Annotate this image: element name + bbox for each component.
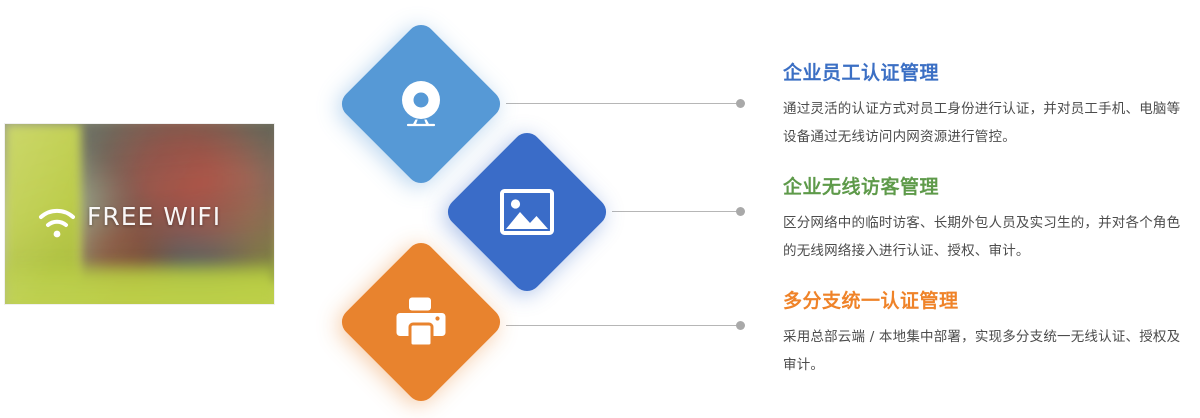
connector-line-3 bbox=[506, 325, 742, 326]
feature-body-1: 通过灵活的认证方式对员工身份进行认证，并对员工手机、电脑等设备通过无线访问内网资… bbox=[783, 95, 1183, 151]
wifi-icon bbox=[37, 206, 77, 240]
connector-line-1 bbox=[506, 103, 742, 104]
connector-line-2 bbox=[612, 211, 742, 212]
photo-yellow-floor bbox=[5, 258, 274, 304]
feature-title-2: 企业无线访客管理 bbox=[783, 176, 1183, 199]
feature-title-3: 多分支统一认证管理 bbox=[783, 290, 1183, 313]
feature-block-1: 企业员工认证管理 通过灵活的认证方式对员工身份进行认证，并对员工手机、电脑等设备… bbox=[783, 62, 1183, 151]
feature-body-2: 区分网络中的临时访客、长期外包人员及实习生的，并对各个角色的无线网络接入进行认证… bbox=[783, 209, 1183, 265]
connector-dot-3 bbox=[736, 321, 745, 330]
icon-tile-multi-branch-auth[interactable] bbox=[336, 237, 506, 407]
wifi-photo: FREE WIFI bbox=[5, 124, 274, 304]
icon-tile-guest-management[interactable] bbox=[442, 127, 612, 297]
webcam-icon bbox=[393, 76, 449, 132]
feature-block-3: 多分支统一认证管理 采用总部云端 / 本地集中部署，实现多分支统一无线认证、授权… bbox=[783, 290, 1183, 379]
connector-dot-2 bbox=[736, 207, 745, 216]
printer-icon bbox=[394, 296, 448, 348]
connector-dot-1 bbox=[736, 99, 745, 108]
feature-title-1: 企业员工认证管理 bbox=[783, 62, 1183, 85]
feature-block-2: 企业无线访客管理 区分网络中的临时访客、长期外包人员及实习生的，并对各个角色的无… bbox=[783, 176, 1183, 265]
feature-body-3: 采用总部云端 / 本地集中部署，实现多分支统一无线认证、授权及审计。 bbox=[783, 323, 1183, 379]
icon-tile-employee-auth[interactable] bbox=[336, 19, 506, 189]
photo-caption: FREE WIFI bbox=[87, 202, 221, 231]
image-icon bbox=[500, 189, 554, 235]
